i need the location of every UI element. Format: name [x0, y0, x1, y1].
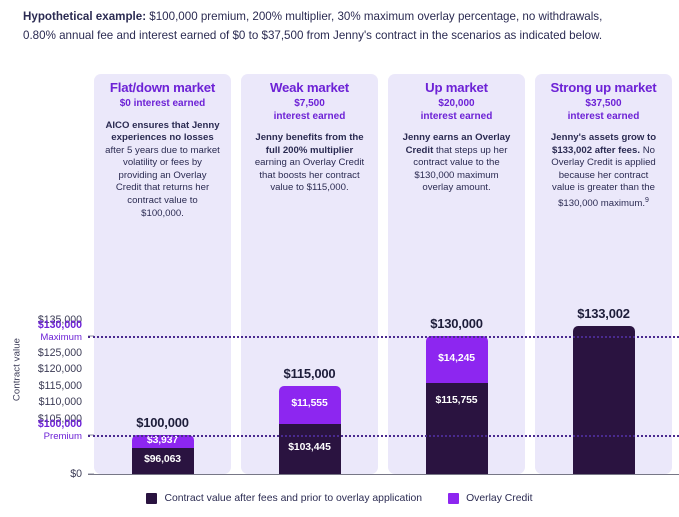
scenario-description: Jenny benefits from the full 200% multip… [246, 132, 373, 195]
legend-label: Overlay Credit [466, 493, 532, 504]
y-tick-0: $0 [70, 468, 82, 480]
y-tick-label: $125,000 [38, 347, 82, 359]
scenario-description: Jenny's assets grow to $133,002 after fe… [540, 132, 667, 211]
gridline-130000 [88, 336, 679, 338]
bar-segment-label-overlay-credit: $14,245 [426, 353, 488, 364]
bar-total-label: $115,000 [257, 366, 363, 381]
scenario-title: Strong up market [540, 80, 667, 96]
scenario-title: Weak market [246, 80, 373, 96]
scenario-header-0: Flat/down market$0 interest earnedAICO e… [94, 74, 231, 220]
y-tick-130000: $130,000Maximum [38, 319, 82, 343]
bar-segment-label-overlay-credit: $11,555 [279, 398, 341, 409]
y-tick-sublabel: Premium [38, 431, 82, 442]
y-tick-label: $130,000 [38, 319, 82, 331]
bar-flat-down-market[interactable]: $3,937$96,063$100,000 [132, 435, 194, 474]
scenario-interest-earned: $0 interest earned [99, 98, 226, 111]
bar-strong-up-market[interactable]: $133,002 [573, 326, 635, 474]
bar-total-label: $130,000 [404, 316, 510, 331]
y-tick-110000: $110,000 [39, 396, 82, 408]
chart-legend: Contract value after fees and prior to o… [0, 493, 679, 504]
legend-label: Contract value after fees and prior to o… [164, 493, 422, 504]
y-tick-100000: $100,000Premium [38, 418, 82, 442]
scenario-interest-earned: $7,500interest earned [246, 98, 373, 123]
y-tick-125000: $125,000 [38, 347, 82, 359]
interest-line: interest earned [540, 111, 667, 124]
y-tick-sublabel: Maximum [38, 332, 82, 343]
y-tick-120000: $120,000 [38, 363, 82, 375]
bar-segment-contract-value[interactable] [573, 326, 635, 474]
plot-area: Flat/down market$0 interest earnedAICO e… [94, 74, 679, 489]
y-tick-115000: $115,000 [39, 380, 82, 392]
legend-item-1[interactable]: Overlay Credit [448, 493, 532, 504]
bar-weak-market[interactable]: $11,555$103,445$115,000 [279, 386, 341, 475]
y-tick-label: $0 [70, 468, 82, 480]
gridline-100000 [88, 435, 679, 437]
intro-lead: Hypothetical example: [23, 10, 146, 23]
scenario-description: Jenny earns an Overlay Credit that steps… [393, 132, 520, 195]
hypothetical-example-paragraph: Hypothetical example: $100,000 premium, … [23, 8, 633, 45]
scenario-description: AICO ensures that Jenny experiences no l… [99, 120, 226, 221]
bar-up-market[interactable]: $14,245$115,755$130,000 [426, 336, 488, 474]
bar-total-label: $133,002 [551, 306, 657, 321]
bar-segment-label-contract-value: $115,755 [426, 395, 488, 406]
legend-swatch-icon [448, 493, 459, 504]
bar-segment-label-contract-value: $96,063 [132, 454, 194, 465]
scenario-header-1: Weak market$7,500interest earnedJenny be… [241, 74, 378, 195]
interest-line: $0 interest earned [99, 98, 226, 111]
y-tick-label: $115,000 [39, 380, 82, 392]
interest-line: interest earned [393, 111, 520, 124]
scenario-interest-earned: $37,500interest earned [540, 98, 667, 123]
interest-line: $20,000 [393, 98, 520, 111]
y-tick-label: $100,000 [38, 418, 82, 430]
legend-swatch-icon [146, 493, 157, 504]
interest-line: $37,500 [540, 98, 667, 111]
bar-segment-label-contract-value: $103,445 [279, 442, 341, 453]
x-axis-baseline [88, 474, 679, 475]
interest-line: $7,500 [246, 98, 373, 111]
scenario-column-0: Flat/down market$0 interest earnedAICO e… [94, 74, 231, 474]
y-tick-label: $120,000 [38, 363, 82, 375]
scenario-header-3: Strong up market$37,500interest earnedJe… [535, 74, 672, 211]
legend-item-0[interactable]: Contract value after fees and prior to o… [146, 493, 422, 504]
y-axis-tick-labels: $135,000$130,000Maximum$125,000$120,000$… [0, 74, 88, 489]
y-tick-label: $110,000 [39, 396, 82, 408]
bar-total-label: $100,000 [110, 415, 216, 430]
overlay-credit-chart: Contract value $135,000$130,000Maximum$1… [0, 74, 679, 489]
scenario-interest-earned: $20,000interest earned [393, 98, 520, 123]
scenario-title: Up market [393, 80, 520, 96]
scenario-header-2: Up market$20,000interest earnedJenny ear… [388, 74, 525, 195]
interest-line: interest earned [246, 111, 373, 124]
scenario-title: Flat/down market [99, 80, 226, 96]
